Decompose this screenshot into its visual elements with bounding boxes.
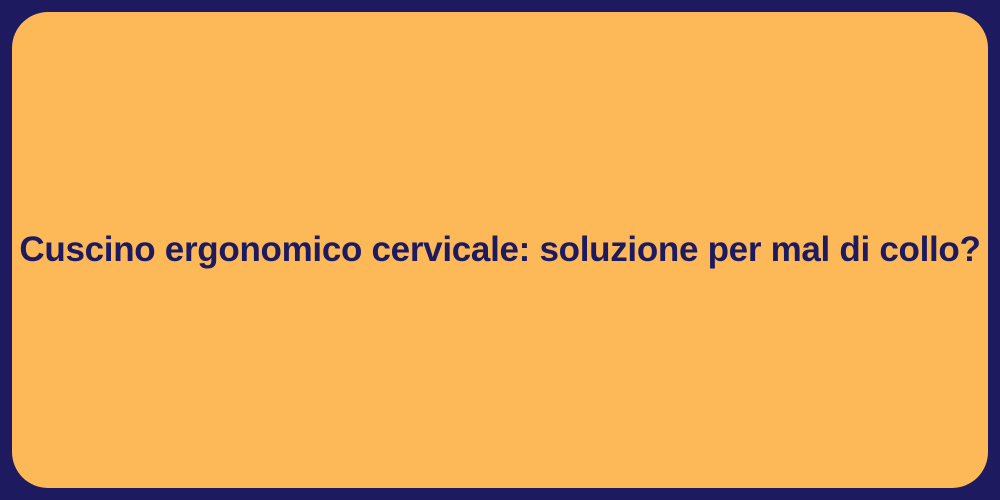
banner-card: Cuscino ergonomico cervicale: soluzione … [12, 12, 988, 488]
banner-headline: Cuscino ergonomico cervicale: soluzione … [12, 228, 988, 272]
banner-frame: Cuscino ergonomico cervicale: soluzione … [0, 0, 1000, 500]
